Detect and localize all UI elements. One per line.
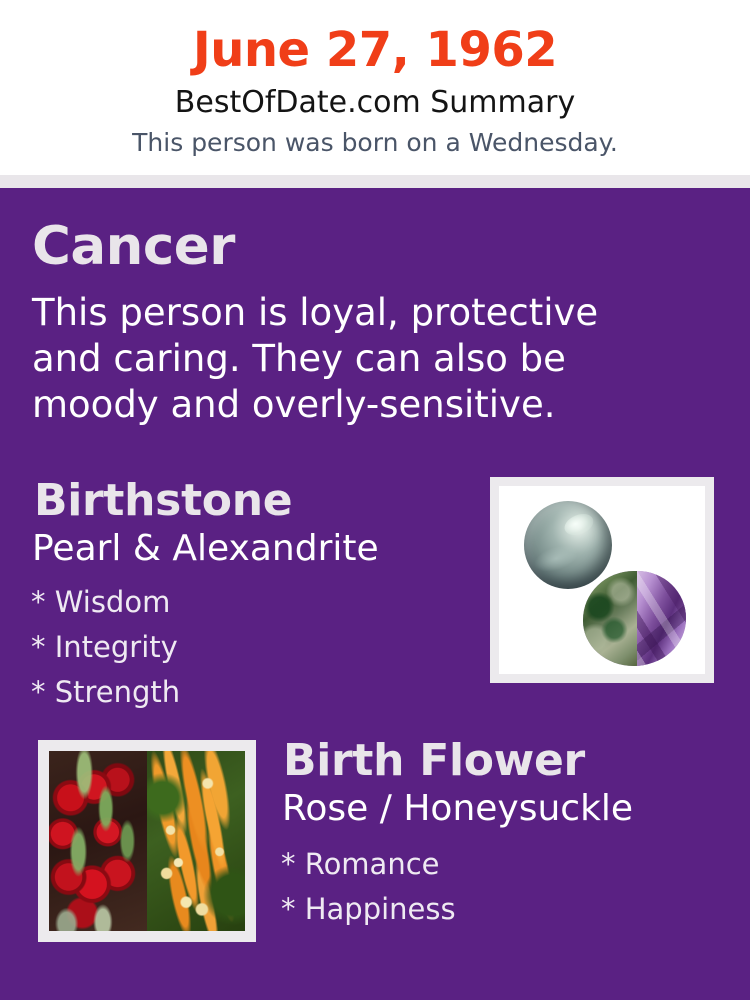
- list-item: * Happiness: [281, 887, 701, 932]
- list-item: * Wisdom: [31, 580, 451, 625]
- alexandrite-gem-icon: [583, 571, 686, 667]
- birthstone-heading: Birthstone: [34, 476, 292, 526]
- header: June 27, 1962 BestOfDate.com Summary Thi…: [0, 0, 750, 175]
- list-item: * Romance: [281, 842, 701, 887]
- birth-flower-name: Rose / Honeysuckle: [282, 788, 633, 830]
- zodiac-sign-title: Cancer: [32, 218, 235, 276]
- page-title-date: June 27, 1962: [0, 22, 750, 78]
- birthstone-trait-list: * Wisdom * Integrity * Strength: [31, 580, 451, 715]
- birth-flower-image-canvas: [49, 751, 245, 931]
- birthstone-name: Pearl & Alexandrite: [32, 528, 379, 570]
- header-divider: [0, 175, 750, 188]
- alexandrite-rough-half: [583, 571, 637, 667]
- honeysuckle-photo-half: [147, 751, 245, 931]
- list-item: * Integrity: [31, 625, 451, 670]
- birth-flower-image: [38, 740, 256, 942]
- birth-flower-trait-list: * Romance * Happiness: [281, 842, 701, 932]
- zodiac-description: This person is loyal, protective and car…: [32, 290, 672, 428]
- list-item: * Strength: [31, 670, 451, 715]
- birthstone-image-canvas: [499, 486, 705, 674]
- birthstone-image: [490, 477, 714, 683]
- alexandrite-faceted-half: [637, 571, 686, 667]
- birth-flower-heading: Birth Flower: [283, 736, 585, 786]
- rose-photo-half: [49, 751, 147, 931]
- site-summary-label: BestOfDate.com Summary: [0, 85, 750, 121]
- born-day-text: This person was born on a Wednesday.: [0, 128, 750, 158]
- summary-card: June 27, 1962 BestOfDate.com Summary Thi…: [0, 0, 750, 1000]
